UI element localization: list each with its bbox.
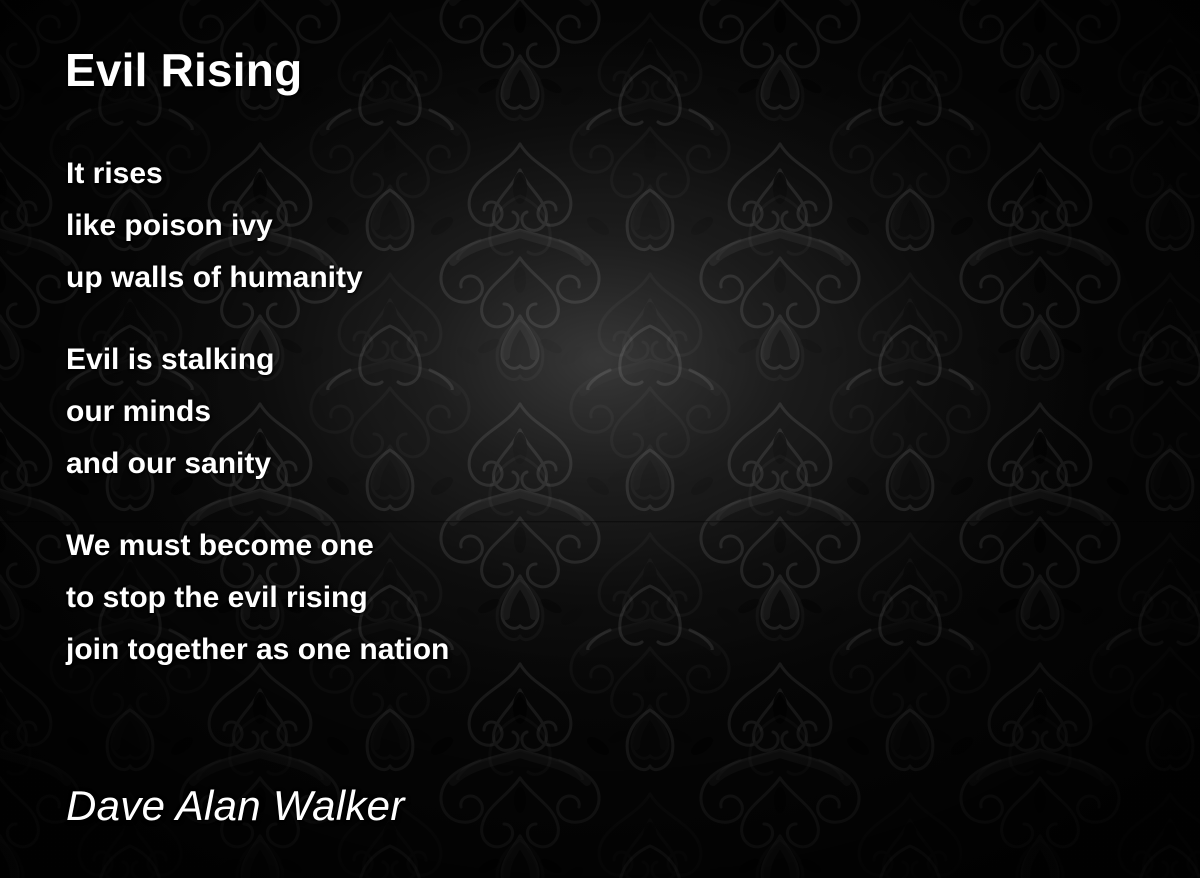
poem-line: Evil is stalking [66,334,1066,386]
poem-line: like poison ivy [66,200,1066,252]
poem-line: up walls of humanity [66,252,1066,304]
poem-stanza: Evil is stalkingour mindsand our sanity [66,334,1066,490]
poem-stanza: It riseslike poison ivyup walls of human… [66,148,1066,304]
poem-body: It riseslike poison ivyup walls of human… [66,148,1066,676]
page-title: Evil Rising [65,46,302,94]
poem-author-signature: Dave Alan Walker [66,782,405,830]
poem-text-block: Evil Rising It riseslike poison ivyup wa… [65,0,1145,878]
poem-stanza: We must become oneto stop the evil risin… [66,520,1066,676]
poem-line: join together as one nation [66,624,1066,676]
poem-line: and our sanity [66,438,1066,490]
poem-line: to stop the evil rising [66,572,1066,624]
poem-image-card: Evil Rising It riseslike poison ivyup wa… [0,0,1200,878]
poem-line: We must become one [66,520,1066,572]
poem-line: our minds [66,386,1066,438]
poem-line: It rises [66,148,1066,200]
